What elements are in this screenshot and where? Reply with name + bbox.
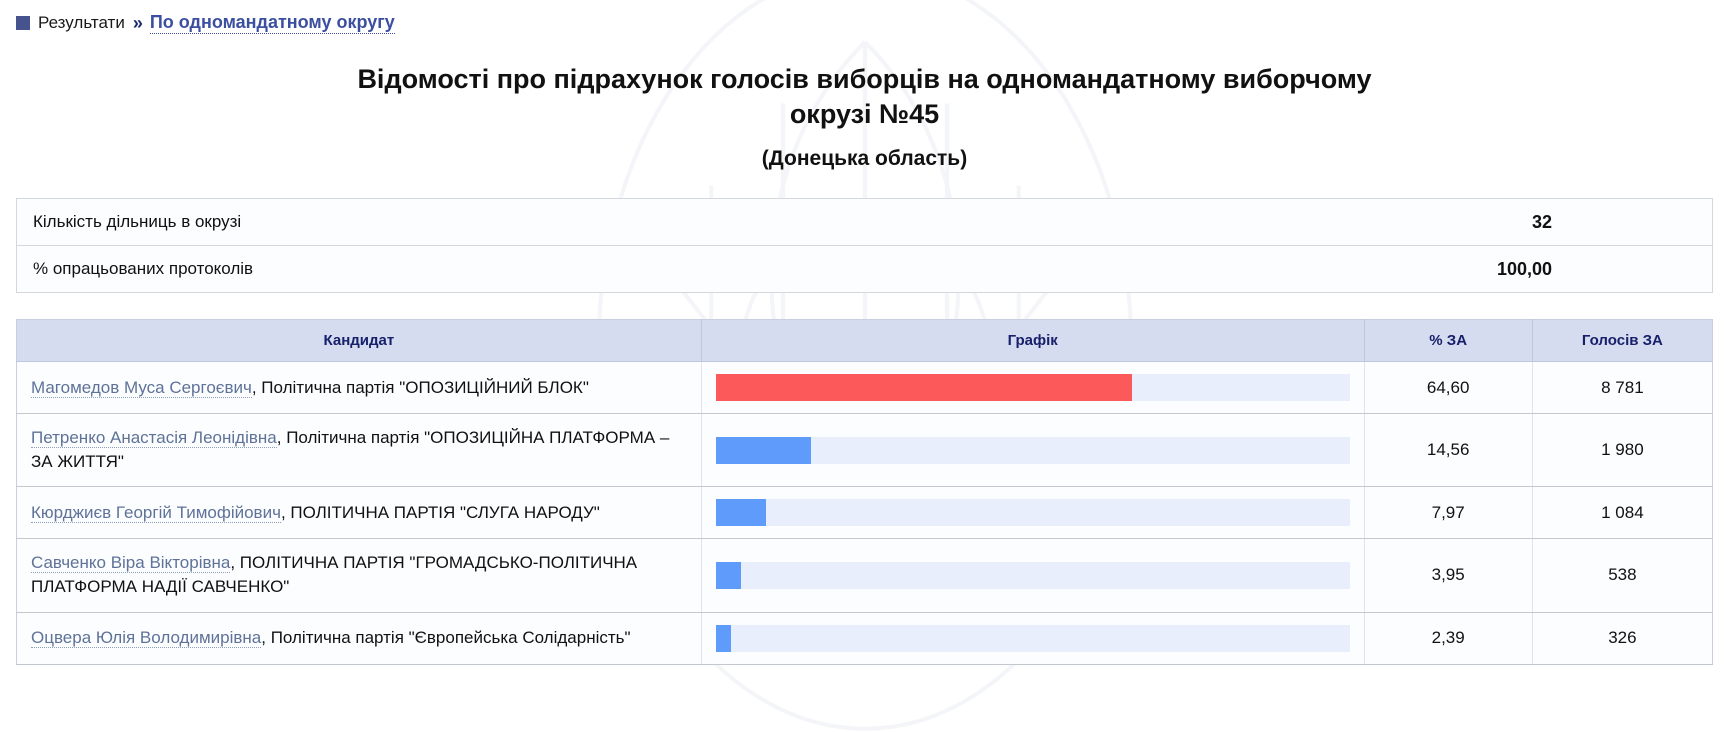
- bar-fill: [716, 499, 766, 526]
- candidate-cell: Оцвера Юлія Володимирівна, Політична пар…: [17, 612, 702, 664]
- page-title: Відомості про підрахунок голосів виборці…: [335, 62, 1395, 131]
- table-row: % опрацьованих протоколів 100,00: [17, 246, 1713, 293]
- square-marker-icon: [16, 16, 30, 30]
- percent-for-value: 64,60: [1364, 362, 1532, 414]
- summary-value-processed-protocols: 100,00: [901, 246, 1712, 293]
- summary-value-precinct-count: 32: [901, 199, 1712, 246]
- votes-for-value: 8 781: [1532, 362, 1712, 414]
- table-row: Магомедов Муса Сергоєвич, Політична парт…: [17, 362, 1713, 414]
- candidate-link[interactable]: Петренко Анастасія Леонідівна: [31, 428, 277, 448]
- table-row: Петренко Анастасія Леонідівна, Політична…: [17, 414, 1713, 487]
- page-subtitle: (Донецька область): [0, 147, 1729, 171]
- chart-cell: [701, 539, 1364, 612]
- candidate-link[interactable]: Магомедов Муса Сергоєвич: [31, 378, 252, 398]
- breadcrumb-separator-icon: »: [133, 13, 142, 34]
- breadcrumb-label: Результати: [38, 13, 125, 33]
- bar-fill: [716, 562, 741, 589]
- candidate-link[interactable]: Кюрджиєв Георгій Тимофійович: [31, 503, 281, 523]
- chart-cell: [701, 414, 1364, 487]
- results-table: Кандидат Графік % ЗА Голосів ЗА Магомедо…: [16, 319, 1713, 665]
- title-block: Відомості про підрахунок голосів виборці…: [0, 62, 1729, 171]
- votes-for-value: 326: [1532, 612, 1712, 664]
- table-row: Кюрджиєв Георгій Тимофійович, ПОЛІТИЧНА …: [17, 487, 1713, 539]
- percent-for-value: 2,39: [1364, 612, 1532, 664]
- summary-table: Кількість дільниць в окрузі 32 % опрацьо…: [16, 198, 1713, 293]
- percent-for-value: 14,56: [1364, 414, 1532, 487]
- results-header-row: Кандидат Графік % ЗА Голосів ЗА: [17, 320, 1713, 362]
- candidate-cell: Кюрджиєв Георгій Тимофійович, ПОЛІТИЧНА …: [17, 487, 702, 539]
- column-header-votes-for[interactable]: Голосів ЗА: [1532, 320, 1712, 362]
- candidate-cell: Савченко Віра Вікторівна, ПОЛІТИЧНА ПАРТ…: [17, 539, 702, 612]
- candidate-party-label: , ПОЛІТИЧНА ПАРТІЯ "СЛУГА НАРОДУ": [281, 503, 600, 522]
- column-header-candidate[interactable]: Кандидат: [17, 320, 702, 362]
- bar-fill: [716, 374, 1132, 401]
- votes-for-value: 1 084: [1532, 487, 1712, 539]
- bar-track: [716, 374, 1350, 401]
- column-header-chart[interactable]: Графік: [701, 320, 1364, 362]
- chart-cell: [701, 362, 1364, 414]
- percent-for-value: 3,95: [1364, 539, 1532, 612]
- results-page: Результати » По одномандатному округу Ві…: [0, 0, 1729, 665]
- votes-for-value: 1 980: [1532, 414, 1712, 487]
- candidate-link[interactable]: Савченко Віра Вікторівна: [31, 553, 230, 573]
- candidate-link[interactable]: Оцвера Юлія Володимирівна: [31, 628, 261, 648]
- candidate-cell: Магомедов Муса Сергоєвич, Політична парт…: [17, 362, 702, 414]
- column-header-percent-for[interactable]: % ЗА: [1364, 320, 1532, 362]
- percent-for-value: 7,97: [1364, 487, 1532, 539]
- bar-fill: [716, 625, 731, 652]
- table-row: Кількість дільниць в окрузі 32: [17, 199, 1713, 246]
- summary-label-processed-protocols: % опрацьованих протоколів: [17, 246, 902, 293]
- table-row: Савченко Віра Вікторівна, ПОЛІТИЧНА ПАРТ…: [17, 539, 1713, 612]
- chart-cell: [701, 612, 1364, 664]
- summary-label-precinct-count: Кількість дільниць в окрузі: [17, 199, 902, 246]
- bar-track: [716, 499, 1350, 526]
- votes-for-value: 538: [1532, 539, 1712, 612]
- table-row: Оцвера Юлія Володимирівна, Політична пар…: [17, 612, 1713, 664]
- breadcrumb-link-single-mandate-district[interactable]: По одномандатному округу: [150, 12, 395, 34]
- candidate-party-label: , Політична партія "ОПОЗИЦІЙНИЙ БЛОК": [252, 378, 589, 397]
- bar-track: [716, 437, 1350, 464]
- chart-cell: [701, 487, 1364, 539]
- candidate-cell: Петренко Анастасія Леонідівна, Політична…: [17, 414, 702, 487]
- bar-fill: [716, 437, 811, 464]
- results-body: Магомедов Муса Сергоєвич, Політична парт…: [17, 362, 1713, 665]
- breadcrumb: Результати » По одномандатному округу: [0, 0, 1729, 36]
- candidate-party-label: , Політична партія "Європейська Солідарн…: [261, 628, 630, 647]
- bar-track: [716, 562, 1350, 589]
- bar-track: [716, 625, 1350, 652]
